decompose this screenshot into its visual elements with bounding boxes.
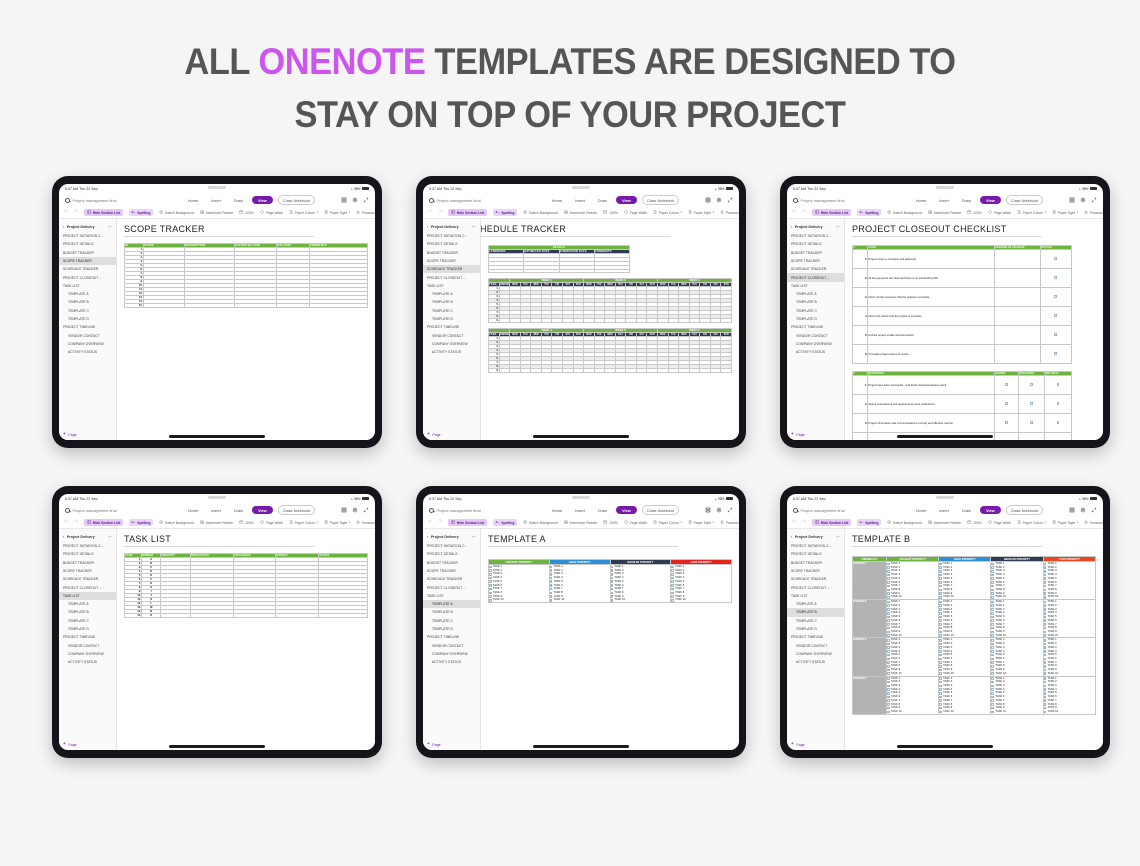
checkbox-icon[interactable] [611,595,614,598]
sidebar-item-template-b[interactable]: TEMPLATE B [787,298,844,306]
sidebar-item-vendor-contact[interactable]: VENDOR CONTACT [423,331,480,339]
task-item[interactable]: TASK 10 [489,598,549,602]
cell[interactable] [594,369,605,373]
checkbox-icon[interactable] [991,608,994,611]
sidebar-item-scope-tracker[interactable]: SCOPE TRACKER [787,567,844,575]
checkbox-icon[interactable] [939,623,942,626]
cell[interactable] [552,319,563,323]
expand-icon[interactable] [363,507,369,513]
checkbox-icon[interactable] [939,688,942,691]
ribbon-btn-hide-section-list[interactable]: Hide Section List [84,519,122,526]
week-row[interactable]: 9. [489,369,732,373]
task-item[interactable]: TASK 10 [1044,595,1095,599]
gear-icon[interactable] [716,507,722,513]
cell[interactable] [190,614,234,618]
cell[interactable] [584,369,595,373]
checkbox-icon[interactable] [611,573,614,576]
checkbox-icon[interactable] [1044,592,1047,595]
checkbox-icon[interactable] [939,711,942,714]
checkbox-icon[interactable] [991,592,994,595]
ribbon-btn-100-[interactable]: 100% [967,210,981,214]
chevron-left-icon[interactable]: ‹ [791,224,792,229]
checkbox-icon[interactable] [550,588,553,591]
checkbox-icon[interactable] [887,707,890,710]
checkbox-icon[interactable] [1044,665,1047,668]
neutral-cell[interactable] [1045,376,1071,395]
ribbon-btn-immersive-reader[interactable]: Immersive Reader [564,210,597,214]
checkbox-icon[interactable] [489,592,492,595]
checkbox-icon[interactable] [939,596,942,599]
checkbox-icon[interactable] [887,646,890,649]
ribbon-btn-100-[interactable]: 100% [239,210,253,214]
ribbon-btn-switch-background[interactable]: Switch Background [887,210,922,214]
checkbox-icon[interactable] [939,619,942,622]
add-page-button[interactable]: +Page [423,739,480,750]
table-row[interactable]: 15.O [125,614,368,618]
gear-icon[interactable] [1080,507,1086,513]
checklist-row[interactable]: 6.Complete project close put review [853,345,1072,364]
ellipsis-icon[interactable]: ⋯ [108,534,112,539]
sidebar-item-project-timeline[interactable]: PROJECT TIMELINE [787,633,844,641]
checkbox-icon[interactable] [939,658,942,661]
sidebar-item-schedule-tracker[interactable]: SCHEDULE TRACKER [787,575,844,583]
page-canvas-project-closeout-checklist[interactable]: PROJECT CLOSEOUT CHECKLIST#TASKPERSON IN… [845,219,1103,440]
sidebar-item-template-d[interactable]: TEMPLATE D [787,315,844,323]
checkbox-icon[interactable] [489,577,492,580]
page-canvas-template-a[interactable]: TEMPLATE AURGENT PRIORITYHIGH PRIORITYME… [481,529,739,750]
ribbon-btn-page-width[interactable]: Page Width [260,210,283,214]
person-cell[interactable] [995,307,1041,326]
sidebar-item-scope-tracker[interactable]: SCOPE TRACKER [423,567,480,575]
checkbox-icon[interactable] [1044,570,1047,573]
sidebar-item-project-initiation-c[interactable]: PROJECT INITIATION C... [787,232,844,240]
page-canvas-template-b[interactable]: TEMPLATE BOWNED BYURGENT PRIORITYHIGH PR… [845,529,1103,750]
checkbox-icon[interactable] [991,566,994,569]
checkbox-icon[interactable] [1044,566,1047,569]
ribbon-tab-home[interactable]: Home [184,506,202,514]
checkbox-icon[interactable] [887,669,890,672]
ribbon-btn-immersive-reader[interactable]: Immersive Reader [200,520,233,524]
checkbox-icon[interactable] [671,566,674,569]
search-input[interactable]: Project management final [429,508,522,513]
sidebar-item-vendor-contact[interactable]: VENDOR CONTACT [787,331,844,339]
checkbox-icon[interactable] [887,634,890,637]
checkbox-icon[interactable] [887,711,890,714]
sidebar-item-task-list[interactable]: TASK LIST [787,592,844,600]
save-icon[interactable] [1069,507,1075,513]
checkbox-icon[interactable] [1054,333,1057,336]
checkbox-icon[interactable] [991,672,994,675]
checkbox-icon[interactable] [991,658,994,661]
checkbox-icon[interactable] [939,692,942,695]
ribbon-btn-hide-section-list[interactable]: Hide Section List [448,209,486,216]
sidebar-item-activity-status[interactable]: ACTIVITY STATUS [787,658,844,666]
checkbox-icon[interactable] [611,569,614,572]
agree-cell[interactable] [995,433,1019,441]
sidebar-item-task-list[interactable]: TASK LIST [59,592,116,600]
task-item[interactable]: TASK 10 [1044,710,1095,714]
checkbox-icon[interactable] [991,696,994,699]
checkbox-icon[interactable] [671,577,674,580]
ribbon-tab-class-notebook[interactable]: Class Notebook [1006,195,1043,205]
cell[interactable] [700,369,711,373]
ribbon-tab-home[interactable]: Home [184,196,202,204]
checkbox-icon[interactable] [887,703,890,706]
sidebar-item-template-a[interactable]: TEMPLATE A [787,600,844,608]
sidebar-item-budget-tracker[interactable]: BUDGET TRACKER [423,559,480,567]
sidebar-item-template-c[interactable]: TEMPLATE C [423,617,480,625]
ribbon-btn-immersive-reader[interactable]: Immersive Reader [200,210,233,214]
cell[interactable] [636,369,647,373]
checkbox-icon[interactable] [939,608,942,611]
ribbon-btn-password-protect[interactable]: Password Protect··· [720,520,739,524]
checklist-row[interactable]: 4.Inform the clients that the project is… [853,307,1072,326]
cell[interactable] [710,369,721,373]
sidebar-item-template-d[interactable]: TEMPLATE D [59,315,116,323]
sidebar-item-project-closeout[interactable]: PROJECT CLOSEOUT ... [59,583,116,591]
cell[interactable] [689,369,700,373]
checkbox-icon[interactable] [887,585,890,588]
cell[interactable] [531,319,542,323]
disagree-cell[interactable] [1019,395,1045,414]
sidebar-item-template-a[interactable]: TEMPLATE A [59,290,116,298]
status-cell[interactable] [1040,269,1071,288]
checkbox-icon[interactable] [887,665,890,668]
ribbon-btn-page-width[interactable]: Page Width [624,210,647,214]
sidebar-item-template-b[interactable]: TEMPLATE B [423,608,480,616]
cell[interactable] [626,319,637,323]
checkbox-icon[interactable] [887,574,890,577]
checkbox-icon[interactable] [939,669,942,672]
chevron-left-icon[interactable]: ‹ [427,534,428,539]
checkbox-icon[interactable] [991,627,994,630]
ribbon-tab-insert[interactable]: Insert [935,196,953,204]
cell[interactable] [234,614,275,618]
cell[interactable] [605,369,616,373]
cell[interactable] [573,319,584,323]
ribbon-btn-password-protect[interactable]: Password Protect··· [1084,210,1103,214]
expand-icon[interactable] [727,197,733,203]
checkbox-icon[interactable] [887,623,890,626]
checkbox-icon[interactable] [939,707,942,710]
cell[interactable] [710,319,721,323]
checkbox-icon[interactable] [939,581,942,584]
agree-cell[interactable] [995,395,1019,414]
checkbox-icon[interactable] [887,639,890,642]
sidebar-item-budget-tracker[interactable]: BUDGET TRACKER [787,249,844,257]
cell[interactable] [143,304,185,308]
question-row[interactable]: 2.Teams expectations and requirements we… [853,395,1072,414]
status-cell[interactable] [1040,288,1071,307]
expand-icon[interactable] [363,197,369,203]
checkbox-icon[interactable] [939,634,942,637]
checkbox-icon[interactable] [887,658,890,661]
ribbon-tab-home[interactable]: Home [548,196,566,204]
agree-cell[interactable] [995,414,1019,433]
ribbon-btn-spelling[interactable]: Spelling [857,519,881,526]
checkbox-icon[interactable] [939,699,942,702]
search-input[interactable]: Project management final [429,198,522,203]
checkbox-icon[interactable] [939,696,942,699]
gear-icon[interactable] [352,507,358,513]
status-cell[interactable] [1040,345,1071,364]
ribbon-tab-view[interactable]: View [252,506,273,514]
search-input[interactable]: Project management final [793,508,886,513]
ribbon-tab-class-notebook[interactable]: Class Notebook [642,505,679,515]
checkbox-icon[interactable] [887,627,890,630]
task-item[interactable]: TASK 10 [887,672,938,676]
checkbox-icon[interactable] [939,585,942,588]
checkbox-icon[interactable] [939,616,942,619]
cell[interactable] [559,269,594,273]
cell[interactable] [573,369,584,373]
checkbox-icon[interactable] [1044,696,1047,699]
disagree-cell[interactable] [1019,433,1045,441]
ribbon-tab-home[interactable]: Home [548,506,566,514]
checkbox-icon[interactable] [991,585,994,588]
checkbox-icon[interactable] [1044,589,1047,592]
sidebar-item-task-list[interactable]: TASK LIST [787,282,844,290]
sidebar-item-scope-tracker[interactable]: SCOPE TRACKER [787,257,844,265]
sidebar-item-template-c[interactable]: TEMPLATE C [787,307,844,315]
ribbon-btn-100-[interactable]: 100% [967,520,981,524]
task-item[interactable]: TASK 10 [939,634,990,638]
checkbox-icon[interactable] [939,612,942,615]
ribbon-btn-paper-style[interactable]: Paper Style▾ [324,210,350,214]
sidebar-item-project-initiation-c[interactable]: PROJECT INITIATION C... [787,542,844,550]
ellipsis-icon[interactable]: ⋯ [836,534,840,539]
redo-icon[interactable]: ↷ [74,210,78,215]
sidebar-item-template-a[interactable]: TEMPLATE A [423,290,480,298]
sidebar-item-project-details[interactable]: PROJECT DETAILS [787,240,844,248]
checkbox-icon[interactable] [887,604,890,607]
expand-icon[interactable] [1091,507,1097,513]
checkbox-icon[interactable] [991,665,994,668]
sidebar-item-project-initiation-c[interactable]: PROJECT INITIATION C... [59,542,116,550]
checkbox-icon[interactable] [1044,688,1047,691]
checkbox-icon[interactable] [887,681,890,684]
checkbox-icon[interactable] [887,581,890,584]
disagree-cell[interactable] [1019,414,1045,433]
checkbox-icon[interactable] [1044,631,1047,634]
cell[interactable] [721,319,732,323]
ribbon-btn-paper-colour[interactable]: Paper Colour▾ [1017,210,1046,214]
checkbox-icon[interactable] [939,703,942,706]
checkbox-icon[interactable] [1044,692,1047,695]
sidebar-item-scope-tracker[interactable]: SCOPE TRACKER [59,257,116,265]
checkbox-icon[interactable] [550,592,553,595]
cell[interactable] [562,369,573,373]
undo-icon[interactable]: ↶ [792,210,796,215]
checkbox-icon[interactable] [991,685,994,688]
sidebar-item-template-d[interactable]: TEMPLATE D [423,625,480,633]
checkbox-icon[interactable] [939,677,942,680]
sidebar-item-activity-status[interactable]: ACTIVITY STATUS [787,348,844,356]
checkbox-icon[interactable] [991,692,994,695]
checklist-row[interactable]: 2.All the payments are clear and there i… [853,269,1072,288]
question-row[interactable]: 3.Project information was communicated i… [853,414,1072,433]
ellipsis-icon[interactable]: ⋯ [836,224,840,229]
cell[interactable] [594,319,605,323]
ribbon-tab-draw[interactable]: Draw [230,506,247,514]
sidebar-item-vendor-contact[interactable]: VENDOR CONTACT [59,641,116,649]
ribbon-btn-paper-colour[interactable]: Paper Colour▾ [1017,520,1046,524]
checkbox-icon[interactable] [939,570,942,573]
checkbox-icon[interactable] [1044,643,1047,646]
checkbox-icon[interactable] [939,646,942,649]
sidebar-item-vendor-contact[interactable]: VENDOR CONTACT [59,331,116,339]
checkbox-icon[interactable] [887,688,890,691]
undo-icon[interactable]: ↶ [428,520,432,525]
search-input[interactable]: Project management final [65,198,158,203]
checkbox-icon[interactable] [1044,650,1047,653]
sidebar-item-template-a[interactable]: TEMPLATE A [423,600,480,608]
neutral-cell[interactable] [1045,414,1071,433]
ribbon-btn-immersive-reader[interactable]: Immersive Reader [928,210,961,214]
checkbox-icon[interactable] [939,627,942,630]
ribbon-btn-paper-style[interactable]: Paper Style▾ [1052,210,1078,214]
task-item[interactable]: TASK 10 [939,710,990,714]
cell[interactable] [647,319,658,323]
sidebar-item-company-overview[interactable]: COMPANY OVERVIEW [59,340,116,348]
checkbox-icon[interactable] [939,672,942,675]
ribbon-btn-page-width[interactable]: Page Width [260,520,283,524]
checkbox-icon[interactable] [550,569,553,572]
cell[interactable] [615,319,626,323]
person-cell[interactable] [995,288,1041,307]
undo-icon[interactable]: ↶ [792,520,796,525]
checkbox-icon[interactable] [991,669,994,672]
checkbox-icon[interactable] [1044,627,1047,630]
search-input[interactable]: Project management final [793,198,886,203]
undo-icon[interactable]: ↶ [64,210,68,215]
person-cell[interactable] [995,345,1041,364]
expand-icon[interactable] [1091,197,1097,203]
save-icon[interactable] [705,507,711,513]
sidebar-item-template-d[interactable]: TEMPLATE D [423,315,480,323]
ribbon-btn-switch-background[interactable]: Switch Background [887,520,922,524]
undo-icon[interactable]: ↶ [64,520,68,525]
cell[interactable] [658,319,669,323]
checkbox-icon[interactable] [991,581,994,584]
cell[interactable] [636,319,647,323]
sidebar-item-schedule-tracker[interactable]: SCHEDULE TRACKER [423,575,480,583]
sidebar-item-project-timeline[interactable]: PROJECT TIMELINE [59,323,116,331]
sidebar-item-template-a[interactable]: TEMPLATE A [787,290,844,298]
ribbon-btn-page-width[interactable]: Page Width [988,520,1011,524]
cell[interactable] [524,269,559,273]
checkbox-icon[interactable] [1044,677,1047,680]
redo-icon[interactable]: ↷ [438,520,442,525]
cell[interactable] [161,614,190,618]
checkbox-icon[interactable] [550,573,553,576]
checkbox-icon[interactable] [991,643,994,646]
ribbon-tab-insert[interactable]: Insert [207,196,225,204]
task-item[interactable]: TASK 10 [991,634,1042,638]
chevron-left-icon[interactable]: ‹ [63,224,64,229]
redo-icon[interactable]: ↷ [438,210,442,215]
sidebar-item-task-list[interactable]: TASK LIST [59,282,116,290]
sidebar-item-template-a[interactable]: TEMPLATE A [59,600,116,608]
sidebar-item-template-c[interactable]: TEMPLATE C [59,307,116,315]
ribbon-btn-spelling[interactable]: Spelling [493,209,517,216]
cell[interactable] [276,304,309,308]
checkbox-icon[interactable] [1044,585,1047,588]
checkbox-icon[interactable] [1044,658,1047,661]
sidebar-item-schedule-tracker[interactable]: SCHEDULE TRACKER [787,265,844,273]
checkbox-icon[interactable] [1054,314,1057,317]
sidebar-item-company-overview[interactable]: COMPANY OVERVIEW [423,650,480,658]
checkbox-icon[interactable] [939,589,942,592]
checkbox-icon[interactable] [1044,612,1047,615]
ribbon-tab-draw[interactable]: Draw [958,196,975,204]
checkbox-icon[interactable] [1005,421,1008,424]
sidebar-item-project-details[interactable]: PROJECT DETAILS [59,550,116,558]
checkbox-icon[interactable] [1030,402,1033,405]
checkbox-icon[interactable] [887,589,890,592]
checkbox-icon[interactable] [991,563,994,566]
checkbox-icon[interactable] [1044,654,1047,657]
checkbox-icon[interactable] [611,584,614,587]
task-item[interactable]: TASK 10 [1044,634,1095,638]
cell[interactable] [615,369,626,373]
checkbox-icon[interactable] [991,639,994,642]
ribbon-btn-paper-colour[interactable]: Paper Colour▾ [653,520,682,524]
redo-icon[interactable]: ↷ [802,520,806,525]
checkbox-icon[interactable] [611,592,614,595]
checkbox-icon[interactable] [887,570,890,573]
cell[interactable] [668,369,679,373]
checklist-row[interactable]: 1.Project scope is complete and delivere… [853,250,1072,269]
ribbon-btn-switch-background[interactable]: Switch Background [523,210,558,214]
add-page-button[interactable]: +Page [787,739,844,750]
undo-icon[interactable]: ↶ [428,210,432,215]
ribbon-btn-immersive-reader[interactable]: Immersive Reader [564,520,597,524]
checkbox-icon[interactable] [939,643,942,646]
checkbox-icon[interactable] [991,646,994,649]
checkbox-icon[interactable] [1044,563,1047,566]
sidebar-item-schedule-tracker[interactable]: SCHEDULE TRACKER [423,265,480,273]
checkbox-icon[interactable] [1044,574,1047,577]
checkbox-icon[interactable] [939,631,942,634]
cell[interactable] [185,304,235,308]
gear-icon[interactable] [716,197,722,203]
checkbox-icon[interactable] [1044,681,1047,684]
ribbon-tab-insert[interactable]: Insert [935,506,953,514]
checkbox-icon[interactable] [1044,616,1047,619]
checkbox-icon[interactable] [1044,596,1047,599]
cell[interactable] [721,369,732,373]
week-row[interactable]: 9. [489,319,732,323]
gear-icon[interactable] [352,197,358,203]
sidebar-item-task-list[interactable]: TASK LIST [423,282,480,290]
table-row[interactable]: 15. [125,304,368,308]
ribbon-btn-hide-section-list[interactable]: Hide Section List [448,519,486,526]
checkbox-icon[interactable] [550,577,553,580]
checkbox-icon[interactable] [1044,619,1047,622]
ribbon-tab-class-notebook[interactable]: Class Notebook [642,195,679,205]
ellipsis-icon[interactable]: ⋯ [108,224,112,229]
ribbon-btn-100-[interactable]: 100% [603,210,617,214]
ellipsis-icon[interactable]: ⋯ [472,224,476,229]
task-item[interactable]: TASK 10 [671,598,731,602]
checkbox-icon[interactable] [939,574,942,577]
sidebar-item-template-b[interactable]: TEMPLATE B [59,298,116,306]
checkbox-icon[interactable] [887,596,890,599]
checkbox-icon[interactable] [887,608,890,611]
page-canvas-scope-tracker[interactable]: SCOPE TRACKERIDSCOPEDESCRIPTIONESTIMATED… [117,219,375,440]
checkbox-icon[interactable] [489,588,492,591]
